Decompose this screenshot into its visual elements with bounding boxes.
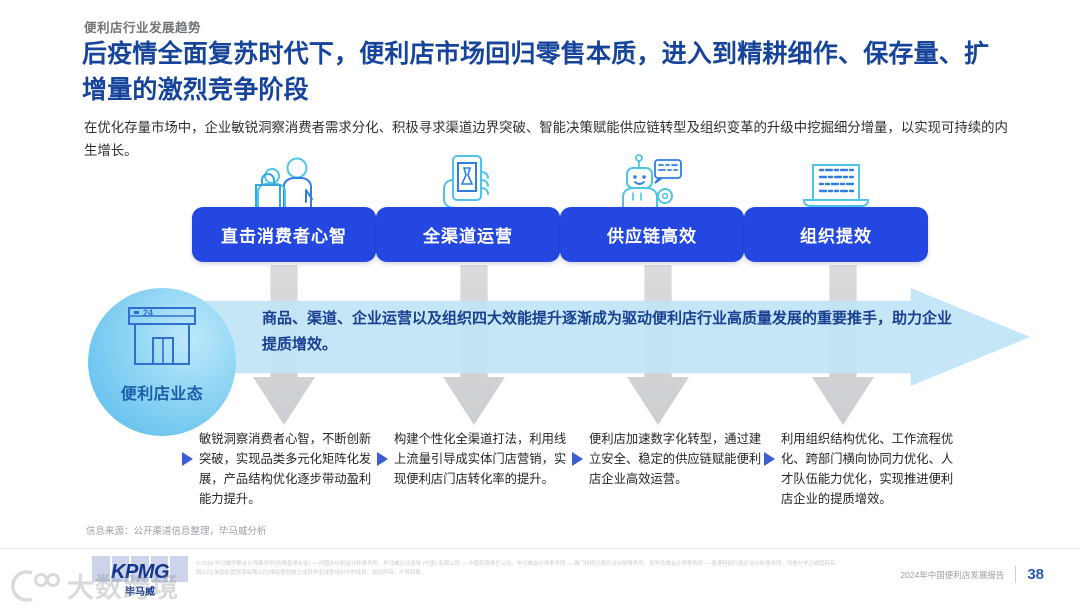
shopper-with-bag-icon [192, 152, 376, 210]
bullet-text-2: 构建个性化全渠道打法，利用线上流量引导成实体门店营销，实现便利店门店转化率的提升… [394, 430, 577, 490]
pillar-card-2[interactable]: 全渠道运营 [376, 152, 560, 270]
robot-data-icon [560, 152, 744, 210]
kpmg-logo: KPMG 毕马威 [88, 556, 192, 596]
triangle-marker-icon [572, 452, 583, 466]
source-note: 信息来源：公开渠道信息整理，毕马威分析 [86, 523, 267, 537]
triangle-marker-icon [764, 452, 775, 466]
svg-text:24: 24 [143, 308, 153, 318]
bullet-item-3: 便利店加速数字化转型，通过建立安全、稳定的供应链赋能便利店企业高效运营。 [572, 430, 772, 490]
page-title: 后疫情全面复苏时代下，便利店市场回归零售本质，进入到精耕细作、保存量、扩增量的激… [82, 37, 1012, 108]
banner-text: 商品、渠道、企业运营以及组织四大效能提升逐渐成为驱动便利店行业高质量发展的重要推… [262, 306, 952, 359]
pillar-card-1[interactable]: 直击消费者心智 [192, 152, 376, 270]
pillar-label-4[interactable]: 组织提效 [744, 207, 928, 262]
format-circle: 24 便利店业态 [88, 288, 236, 436]
pillar-label-3[interactable]: 供应链高效 [560, 207, 744, 262]
convenience-store-24-icon: 24 [88, 304, 236, 366]
bullet-item-1: 敏锐洞察消费者心智，不断创新突破，实现品类多元化矩阵化发展，产品结构优化逐步带动… [182, 430, 382, 510]
laptop-binary-icon [744, 152, 928, 210]
pillar-group: 直击消费者心智 全渠道运营 [0, 152, 1080, 272]
footer-page-meta: 2024年中国便利店发展报告 38 [900, 566, 1044, 583]
triangle-marker-icon [377, 452, 388, 466]
pillar-label-1[interactable]: 直击消费者心智 [192, 207, 376, 262]
hand-holding-phone-icon [376, 152, 560, 210]
pillar-label-2[interactable]: 全渠道运营 [376, 207, 560, 262]
pillar-card-3[interactable]: 供应链高效 [560, 152, 744, 270]
bullet-text-1: 敏锐洞察消费者心智，不断创新突破，实现品类多元化矩阵化发展，产品结构优化逐步带动… [199, 430, 382, 510]
bullet-item-4: 利用组织结构优化、工作流程优化、跨部门横向协同力优化、人才队伍能力优化，实现推进… [764, 430, 964, 510]
document-title: 2024年中国便利店发展报告 [900, 569, 1004, 581]
meta-divider [1015, 566, 1016, 583]
slide-canvas: 便利店行业发展趋势 后疫情全面复苏时代下，便利店市场回归零售本质，进入到精耕细作… [0, 0, 1080, 608]
page-number: 38 [1027, 566, 1044, 583]
legal-disclaimer: © 2024 毕马威华振会计师事务所(特殊普通合伙) — 中国合伙制会计师事务所… [196, 560, 836, 579]
pillar-card-4[interactable]: 组织提效 [744, 152, 928, 270]
bullet-group: 敏锐洞察消费者心智，不断创新突破，实现品类多元化矩阵化发展，产品结构优化逐步带动… [0, 430, 1080, 530]
bullet-text-4: 利用组织结构优化、工作流程优化、跨部门横向协同力优化、人才队伍能力优化，实现推进… [781, 430, 964, 510]
bullet-item-2: 构建个性化全渠道打法，利用线上流量引导成实体门店营销，实现便利店门店转化率的提升… [377, 430, 577, 490]
kpmg-logo-chinese: 毕马威 [88, 583, 192, 598]
triangle-marker-icon [182, 452, 193, 466]
eyebrow-label: 便利店行业发展趋势 [84, 17, 201, 36]
footer-divider [0, 548, 1080, 549]
watermark-logo-icon [8, 569, 60, 603]
bullet-text-3: 便利店加速数字化转型，通过建立安全、稳定的供应链赋能便利店企业高效运营。 [589, 430, 772, 490]
format-circle-label: 便利店业态 [88, 380, 236, 404]
kpmg-logo-wordmark: KPMG [88, 561, 192, 584]
